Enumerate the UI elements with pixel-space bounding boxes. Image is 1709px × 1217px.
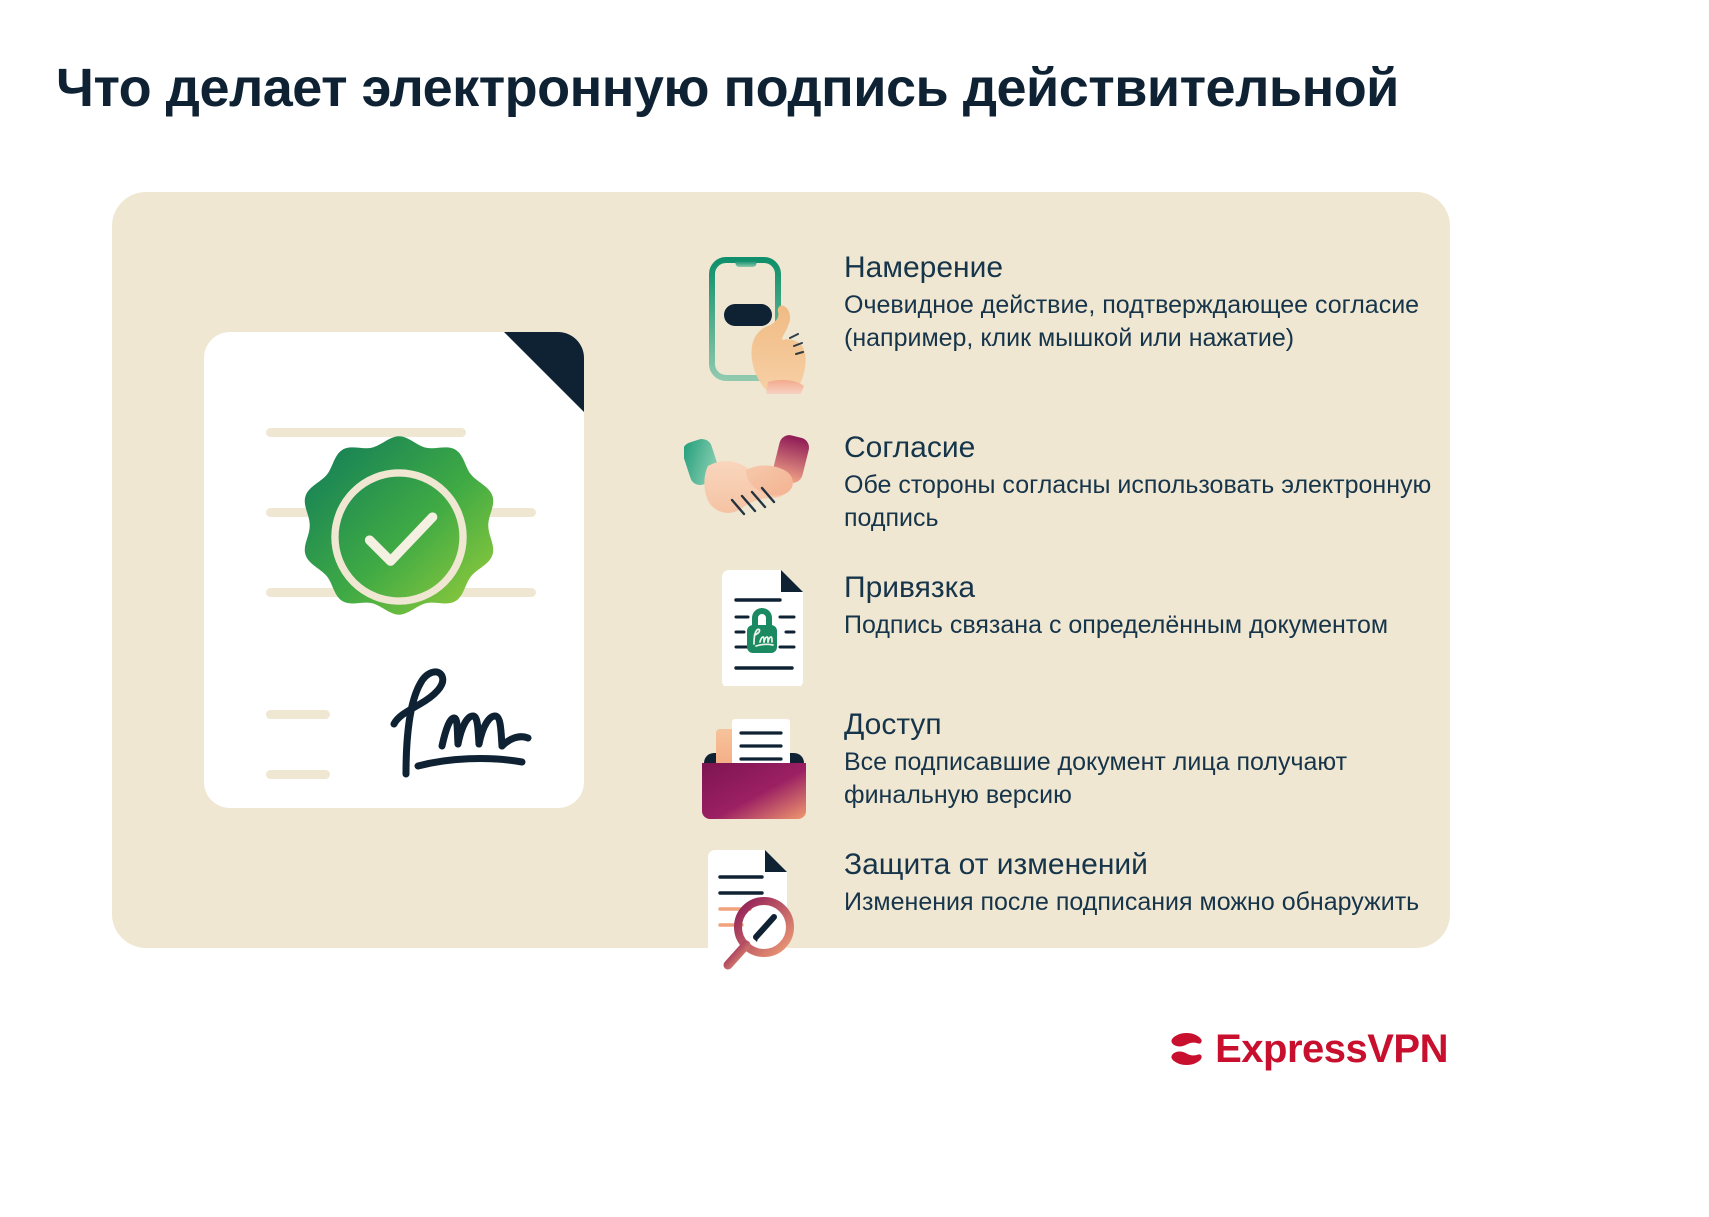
document-text-line (266, 710, 330, 719)
verified-seal-checkmark-icon (294, 432, 504, 642)
feature-text-block: Доступ Все подписавшие документ лица пол… (844, 707, 1444, 811)
page-fold-corner-icon (504, 332, 584, 412)
feature-text-block: Защита от изменений Изменения после подп… (844, 847, 1444, 919)
infographic-page: Что делает электронную подпись действите… (0, 0, 1709, 1217)
handshake-icon (684, 430, 814, 540)
brand-wordmark: ExpressVPN (1215, 1029, 1448, 1069)
document-magnifier-edit-icon (702, 847, 812, 973)
feature-text-block: Согласие Обе стороны согласны использова… (844, 430, 1444, 534)
feature-description: Подпись связана с определённым документо… (844, 609, 1444, 642)
feature-description: Изменения после подписания можно обнаруж… (844, 886, 1444, 919)
feature-text-block: Привязка Подпись связана с определённым … (844, 570, 1444, 642)
document-lock-signature-icon (714, 570, 810, 686)
feature-description: Очевидное действие, подтверждающее согла… (844, 289, 1444, 354)
content-card: Намерение Очевидное действие, подтвержда… (112, 192, 1450, 948)
feature-description: Все подписавшие документ лица получают ф… (844, 746, 1444, 811)
expressvpn-logo: ExpressVPN (1168, 1018, 1448, 1080)
feature-title: Согласие (844, 430, 1444, 465)
handwritten-signature-icon (372, 662, 552, 782)
document-text-line (266, 770, 330, 779)
feature-description: Обе стороны согласны использовать электр… (844, 469, 1444, 534)
page-title: Что делает электронную подпись действите… (56, 58, 1656, 118)
feature-title: Привязка (844, 570, 1444, 605)
feature-title: Защита от изменений (844, 847, 1444, 882)
feature-text-block: Намерение Очевидное действие, подтвержда… (844, 250, 1444, 354)
feature-title: Намерение (844, 250, 1444, 285)
signed-document-illustration (204, 332, 584, 808)
expressvpn-logo-icon (1168, 1020, 1205, 1078)
feature-title: Доступ (844, 707, 1444, 742)
phone-tap-finger-icon (706, 254, 816, 394)
folder-document-icon (694, 707, 814, 827)
